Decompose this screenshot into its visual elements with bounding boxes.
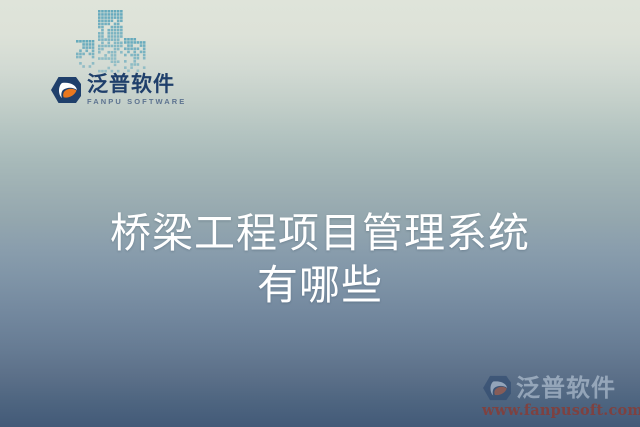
- brand-name-en: FANPU SOFTWARE: [87, 98, 186, 106]
- banner-canvas: 泛普软件 FANPU SOFTWARE 桥梁工程项目管理系统 有哪些 泛普软件 …: [0, 0, 640, 427]
- fanpu-hexagon-swoosh-icon: [482, 375, 512, 401]
- brand-logo: 泛普软件 FANPU SOFTWARE: [50, 74, 186, 106]
- brand-wordmark: 泛普软件 FANPU SOFTWARE: [87, 74, 186, 106]
- page-title-line-1: 桥梁工程项目管理系统: [0, 207, 640, 259]
- watermark-logo-row: 泛普软件: [482, 375, 634, 401]
- watermark-name-cn: 泛普软件: [516, 376, 616, 400]
- page-title-line-2: 有哪些: [0, 259, 640, 311]
- watermark: 泛普软件 www.fanpusoft.com: [482, 375, 634, 419]
- page-title: 桥梁工程项目管理系统 有哪些: [0, 207, 640, 311]
- pixel-city-skyline-icon: [70, 4, 150, 74]
- fanpu-hexagon-swoosh-icon: [50, 76, 82, 104]
- watermark-url: www.fanpusoft.com: [482, 402, 634, 419]
- brand-name-cn: 泛普软件: [87, 74, 186, 95]
